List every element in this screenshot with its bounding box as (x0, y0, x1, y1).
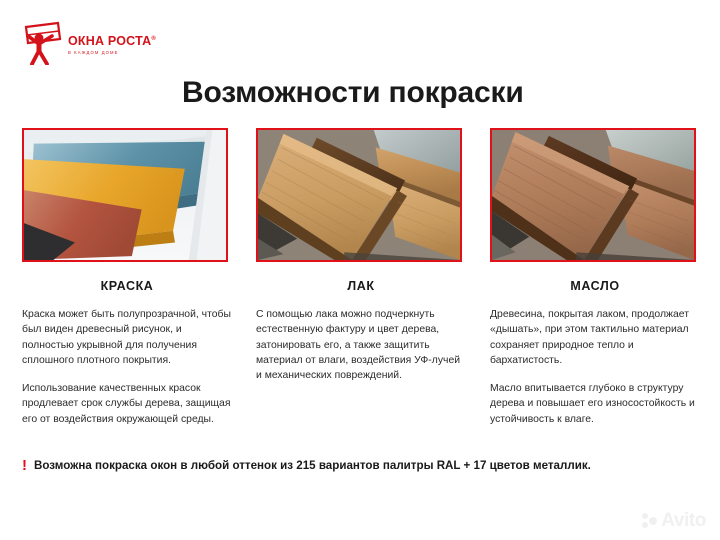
column-heading-oil: МАСЛО (490, 279, 700, 293)
painted-boards-photo (22, 128, 228, 262)
brand-tagline: в каждом доме (68, 51, 156, 55)
column-oil: МАСЛО Древесина, покрытая лаком, продолж… (490, 128, 700, 440)
column-paint: КРАСКА Краска может быть полупрозрачной,… (22, 128, 232, 440)
paragraph: Использование качественных красок продле… (22, 381, 232, 427)
paragraph: Масло впитывается глубоко в структуру де… (490, 381, 700, 427)
content-columns: КРАСКА Краска может быть полупрозрачной,… (0, 128, 720, 440)
varnished-window-photo (256, 128, 462, 262)
column-body-varnish: С помощью лака можно подчеркнуть естеств… (256, 307, 466, 383)
slide-root: ОКНА РОСТА® в каждом доме Возможности по… (0, 0, 720, 540)
paragraph: Древесина, покрытая лаком, продолжает «д… (490, 307, 700, 368)
column-varnish: ЛАК С помощью лака можно подчеркнуть ест… (256, 128, 466, 440)
footer-note: ! Возможна покраска окон в любой оттенок… (22, 458, 591, 473)
paragraph: Краска может быть полупрозрачной, чтобы … (22, 307, 232, 368)
exclamation-mark-icon: ! (22, 458, 27, 473)
page-title: Возможности покраски (182, 76, 524, 110)
column-heading-paint: КРАСКА (22, 279, 232, 293)
avito-watermark: Avito (642, 511, 706, 530)
oiled-window-photo (490, 128, 696, 262)
column-body-paint: Краска может быть полупрозрачной, чтобы … (22, 307, 232, 427)
avito-watermark-text: Avito (661, 511, 706, 530)
paragraph: С помощью лака можно подчеркнуть естеств… (256, 307, 466, 383)
avito-logo-icon (642, 513, 657, 529)
column-body-oil: Древесина, покрытая лаком, продолжает «д… (490, 307, 700, 427)
footer-note-text: Возможна покраска окон в любой оттенок и… (34, 458, 591, 473)
person-holding-window-icon (18, 21, 64, 65)
brand-name: ОКНА РОСТА® (68, 35, 156, 48)
trademark-symbol: ® (151, 36, 156, 42)
column-heading-varnish: ЛАК (256, 279, 466, 293)
brand-logo[interactable]: ОКНА РОСТА® в каждом доме (18, 20, 138, 66)
